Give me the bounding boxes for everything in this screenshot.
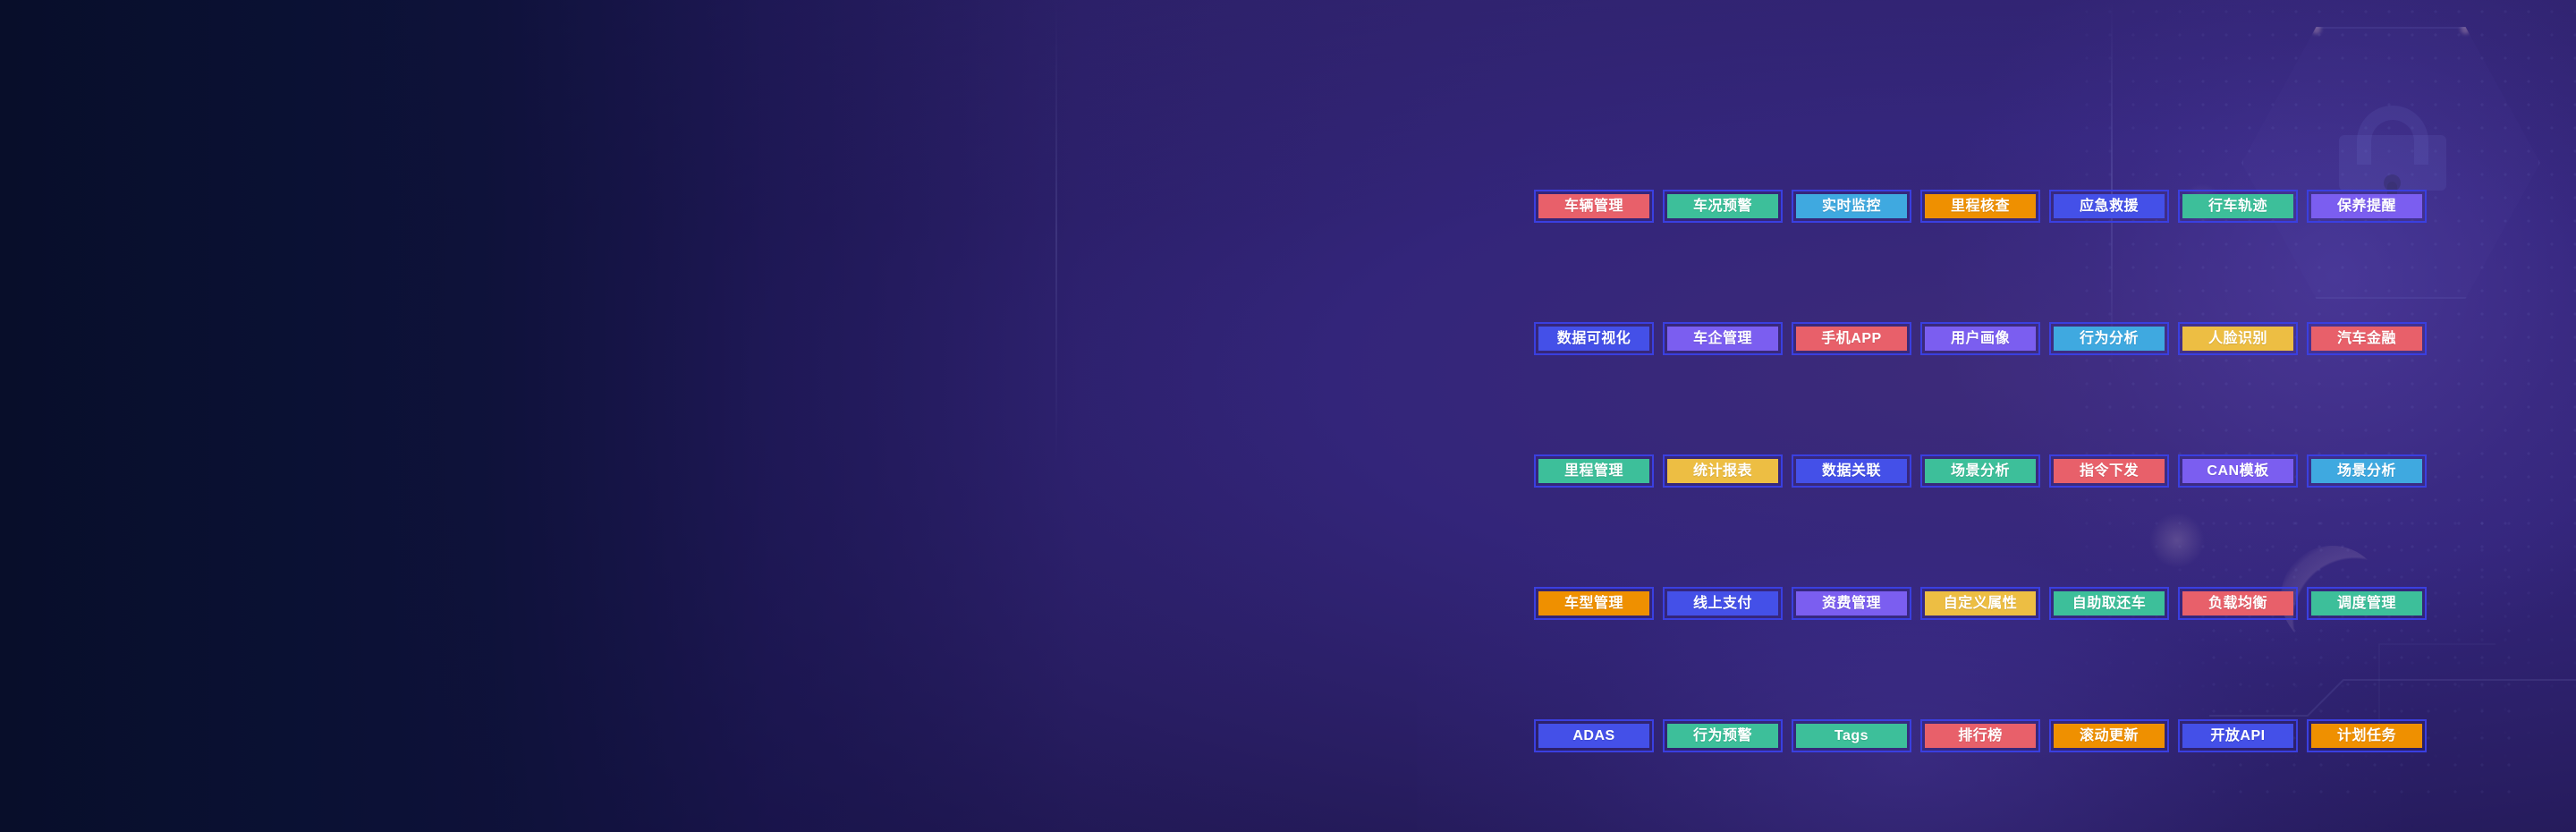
feature-tile-label: 保养提醒 (2311, 194, 2422, 218)
feature-tile[interactable]: 数据可视化 (1534, 322, 1654, 355)
feature-tile-label: 指令下发 (2054, 459, 2165, 483)
feature-tile-label: 负载均衡 (2182, 591, 2293, 616)
feature-tile-label: Tags (1796, 724, 1907, 748)
feature-tile-label: 实时监控 (1796, 194, 1907, 218)
feature-tile-label: 人脸识别 (2182, 327, 2293, 351)
feature-tile[interactable]: 自定义属性 (1920, 587, 2040, 620)
feature-tile[interactable]: 统计报表 (1663, 454, 1783, 488)
feature-tile-label: 行车轨迹 (2182, 194, 2293, 218)
feature-tile[interactable]: 实时监控 (1792, 190, 1911, 223)
feature-tile-label: 资费管理 (1796, 591, 1907, 616)
feature-tile-label: 调度管理 (2311, 591, 2422, 616)
feature-tile-label: 场景分析 (1925, 459, 2036, 483)
feature-tile[interactable]: 应急救援 (2049, 190, 2169, 223)
feature-tile[interactable]: 车况预警 (1663, 190, 1783, 223)
feature-tile-label: 开放API (2182, 724, 2293, 748)
feature-tile-label: 车企管理 (1667, 327, 1778, 351)
feature-tile-label: 里程管理 (1538, 459, 1649, 483)
feature-tile[interactable]: 车辆管理 (1534, 190, 1654, 223)
feature-tile[interactable]: CAN模板 (2178, 454, 2298, 488)
feature-tile-label: 滚动更新 (2054, 724, 2165, 748)
feature-tile-label: 手机APP (1796, 327, 1907, 351)
feature-tile-label: 汽车金融 (2311, 327, 2422, 351)
feature-tile[interactable]: 数据关联 (1792, 454, 1911, 488)
feature-tile-label: 车型管理 (1538, 591, 1649, 616)
feature-tile-label: 自助取还车 (2054, 591, 2165, 616)
feature-tile-label: 计划任务 (2311, 724, 2422, 748)
feature-tile[interactable]: 指令下发 (2049, 454, 2169, 488)
feature-tile-label: 里程核查 (1925, 194, 2036, 218)
feature-tile-label: CAN模板 (2182, 459, 2293, 483)
feature-tile-label: 行为预警 (1667, 724, 1778, 748)
feature-tile[interactable]: 资费管理 (1792, 587, 1911, 620)
feature-tile[interactable]: 线上支付 (1663, 587, 1783, 620)
feature-tile[interactable]: 负载均衡 (2178, 587, 2298, 620)
feature-tile-label: 排行榜 (1925, 724, 2036, 748)
feature-tile-label: 统计报表 (1667, 459, 1778, 483)
feature-tile[interactable]: 开放API (2178, 719, 2298, 752)
feature-tile[interactable]: 用户画像 (1920, 322, 2040, 355)
feature-tile-label: 车况预警 (1667, 194, 1778, 218)
feature-tile[interactable]: 手机APP (1792, 322, 1911, 355)
feature-tile-label: ADAS (1538, 724, 1649, 748)
feature-tile[interactable]: ADAS (1534, 719, 1654, 752)
feature-tile-label: 数据关联 (1796, 459, 1907, 483)
feature-tile[interactable]: 车型管理 (1534, 587, 1654, 620)
feature-tile[interactable]: 里程核查 (1920, 190, 2040, 223)
feature-tile[interactable]: 行为预警 (1663, 719, 1783, 752)
feature-tile-label: 车辆管理 (1538, 194, 1649, 218)
feature-tile[interactable]: 排行榜 (1920, 719, 2040, 752)
feature-tile-label: 线上支付 (1667, 591, 1778, 616)
feature-tile[interactable]: 场景分析 (2307, 454, 2427, 488)
feature-tile[interactable]: 车企管理 (1663, 322, 1783, 355)
feature-tile-label: 数据可视化 (1538, 327, 1649, 351)
feature-tile[interactable]: 计划任务 (2307, 719, 2427, 752)
feature-tile[interactable]: 保养提醒 (2307, 190, 2427, 223)
feature-tile-label: 用户画像 (1925, 327, 2036, 351)
feature-tile-label: 应急救援 (2054, 194, 2165, 218)
feature-tile[interactable]: Tags (1792, 719, 1911, 752)
feature-tile-label: 自定义属性 (1925, 591, 2036, 616)
feature-tile[interactable]: 自助取还车 (2049, 587, 2169, 620)
feature-tile-grid: 车辆管理车况预警实时监控里程核查应急救援行车轨迹保养提醒数据可视化车企管理手机A… (1534, 190, 2427, 832)
feature-tile[interactable]: 里程管理 (1534, 454, 1654, 488)
feature-tile[interactable]: 调度管理 (2307, 587, 2427, 620)
feature-tile[interactable]: 场景分析 (1920, 454, 2040, 488)
feature-tile[interactable]: 汽车金融 (2307, 322, 2427, 355)
feature-tile[interactable]: 行车轨迹 (2178, 190, 2298, 223)
feature-tile[interactable]: 人脸识别 (2178, 322, 2298, 355)
feature-tile[interactable]: 行为分析 (2049, 322, 2169, 355)
feature-tile-label: 行为分析 (2054, 327, 2165, 351)
app-stage: 车辆管理车况预警实时监控里程核查应急救援行车轨迹保养提醒数据可视化车企管理手机A… (0, 0, 2576, 832)
feature-tile-label: 场景分析 (2311, 459, 2422, 483)
feature-tile[interactable]: 滚动更新 (2049, 719, 2169, 752)
